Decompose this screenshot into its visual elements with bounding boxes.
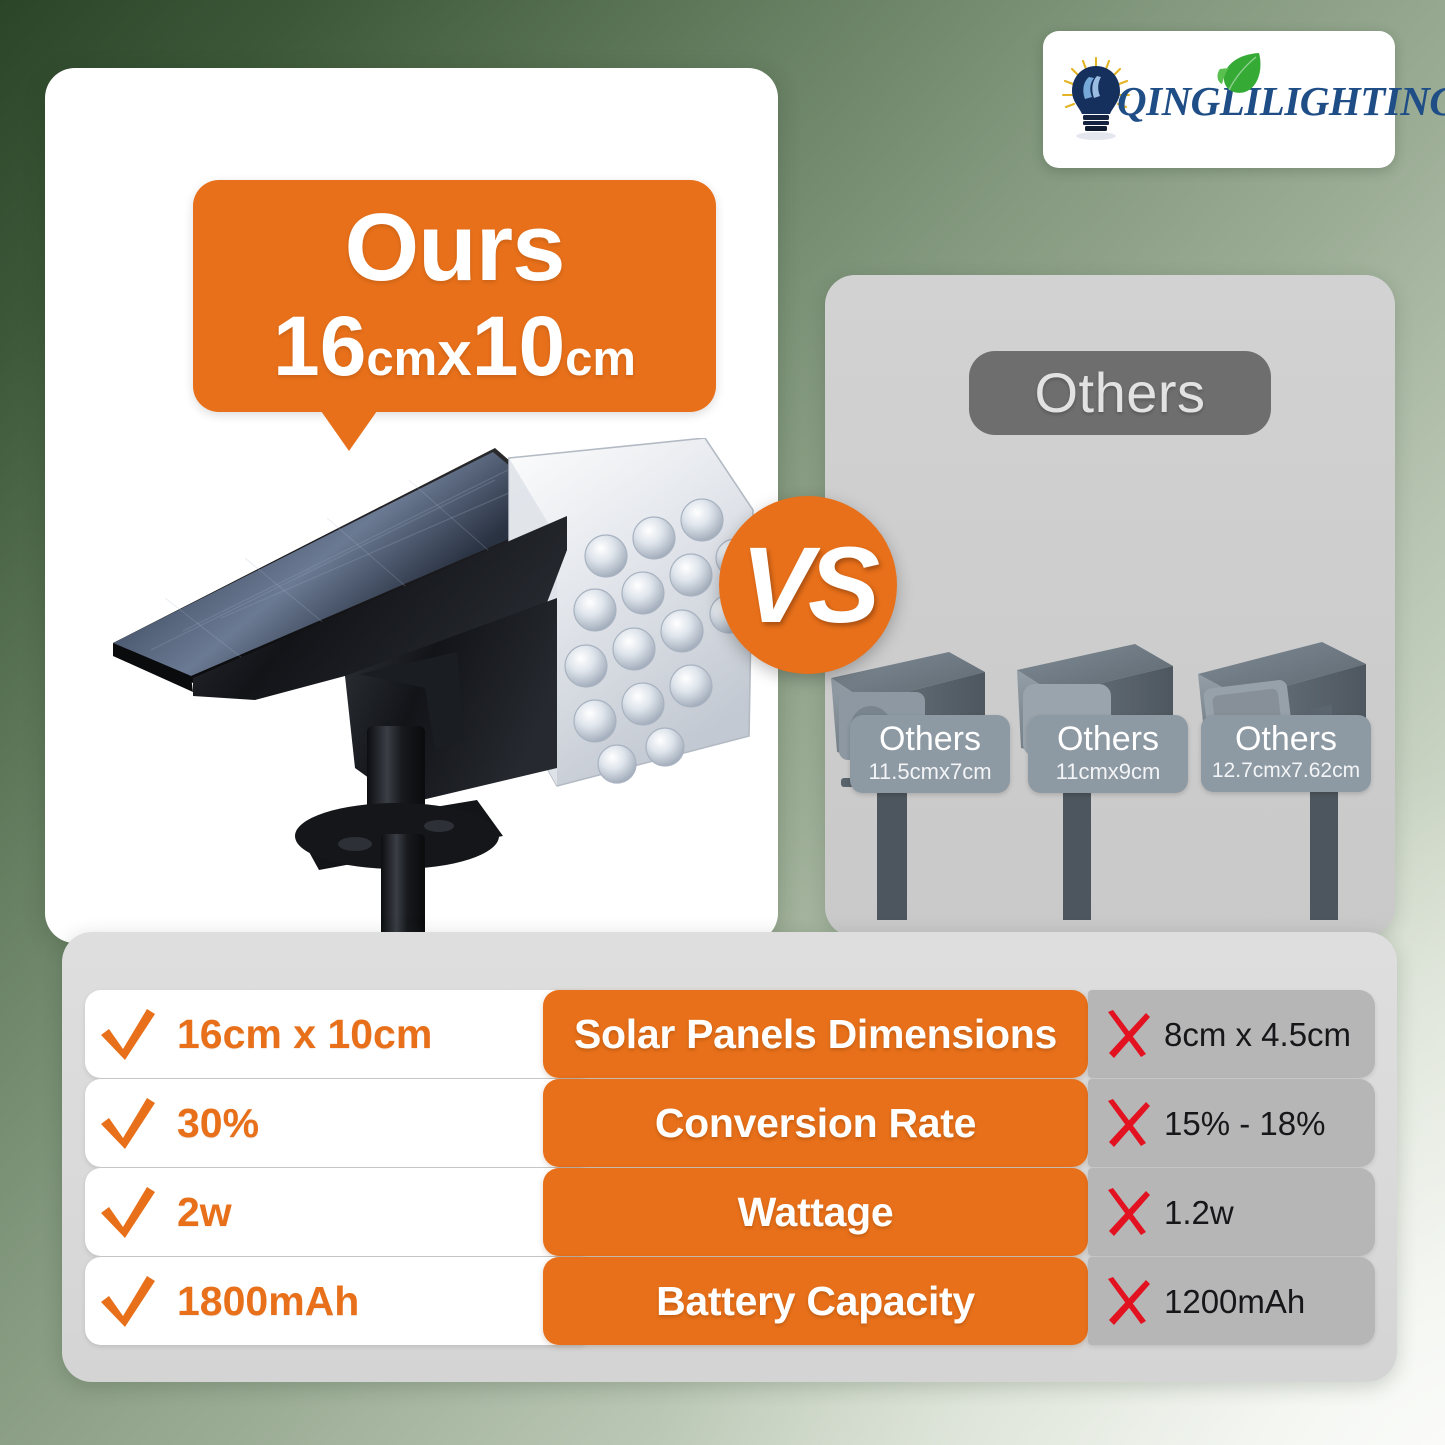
others-value: 1.2w bbox=[1164, 1196, 1234, 1229]
ours-cell: 30% bbox=[85, 1079, 585, 1167]
ours-cell: 2w bbox=[85, 1168, 585, 1256]
brand-logo-card: QINGLILIGHTING bbox=[1043, 31, 1395, 168]
others-cell: 1200mAh bbox=[1088, 1257, 1375, 1345]
others-value: 15% - 18% bbox=[1164, 1107, 1325, 1140]
comparison-table: 16cm x 10cm Solar Panels Dimensions 8cm … bbox=[62, 932, 1397, 1382]
ours-cell: 16cm x 10cm bbox=[85, 990, 585, 1078]
leaf-icon bbox=[1215, 51, 1265, 97]
ours-value: 1800mAh bbox=[177, 1281, 359, 1322]
ours-badge-dimensions: 16cmx10cm bbox=[193, 304, 716, 388]
ours-badge-title: Ours bbox=[193, 180, 716, 296]
check-icon bbox=[91, 1005, 165, 1063]
others-value: 8cm x 4.5cm bbox=[1164, 1018, 1351, 1051]
ours-dim-unit-2: cm bbox=[565, 332, 636, 386]
ours-cell: 1800mAh bbox=[85, 1257, 585, 1345]
others-heading-pill: Others bbox=[969, 351, 1271, 435]
versus-label: VS bbox=[741, 531, 875, 639]
ours-badge: Ours 16cmx10cm bbox=[193, 180, 716, 412]
others-product-label-1: Others 11.5cmx7cm bbox=[850, 715, 1010, 793]
feature-label-cell: Solar Panels Dimensions bbox=[543, 990, 1088, 1078]
infographic-page: Ours 16cmx10cm bbox=[0, 0, 1445, 1445]
others-product-label-2: Others 11cmx9cm bbox=[1028, 715, 1188, 793]
ours-dim-unit-1: cm bbox=[366, 332, 437, 386]
ours-product-image bbox=[105, 438, 785, 1003]
ours-dim-value-2: 10 bbox=[472, 299, 565, 393]
check-icon bbox=[91, 1272, 165, 1330]
versus-badge: VS bbox=[719, 496, 897, 674]
cross-icon bbox=[1094, 1097, 1160, 1149]
others-product-size-2: 11cmx9cm bbox=[1028, 759, 1188, 784]
brand-name: QINGLILIGHTING bbox=[1117, 81, 1445, 122]
table-row: 30% Conversion Rate 15% - 18% bbox=[85, 1079, 1375, 1167]
others-product-name-2: Others bbox=[1028, 722, 1188, 758]
ours-value: 16cm x 10cm bbox=[177, 1014, 432, 1055]
feature-label: Battery Capacity bbox=[656, 1281, 975, 1322]
cross-icon bbox=[1094, 1008, 1160, 1060]
table-row: 16cm x 10cm Solar Panels Dimensions 8cm … bbox=[85, 990, 1375, 1078]
feature-label-cell: Battery Capacity bbox=[543, 1257, 1088, 1345]
others-cell: 1.2w bbox=[1088, 1168, 1375, 1256]
others-product-name-3: Others bbox=[1201, 722, 1371, 758]
table-row: 1800mAh Battery Capacity 1200mAh bbox=[85, 1257, 1375, 1345]
others-heading-label: Others bbox=[1034, 365, 1205, 421]
others-product-label-3: Others 12.7cmx7.62cm bbox=[1201, 715, 1371, 792]
ours-card: Ours 16cmx10cm bbox=[45, 68, 778, 943]
table-row: 2w Wattage 1.2w bbox=[85, 1168, 1375, 1256]
ours-value: 30% bbox=[177, 1103, 259, 1144]
others-cell: 8cm x 4.5cm bbox=[1088, 990, 1375, 1078]
others-product-name-1: Others bbox=[850, 722, 1010, 758]
others-panel: Others bbox=[825, 275, 1395, 937]
cross-icon bbox=[1094, 1186, 1160, 1238]
ours-dim-value-1: 16 bbox=[273, 299, 366, 393]
feature-label: Wattage bbox=[738, 1192, 894, 1233]
others-value: 1200mAh bbox=[1164, 1285, 1305, 1318]
feature-label: Conversion Rate bbox=[655, 1103, 976, 1144]
others-product-size-3: 12.7cmx7.62cm bbox=[1201, 759, 1371, 783]
feature-label-cell: Conversion Rate bbox=[543, 1079, 1088, 1167]
check-icon bbox=[91, 1094, 165, 1152]
others-product-size-1: 11.5cmx7cm bbox=[850, 759, 1010, 784]
check-icon bbox=[91, 1183, 165, 1241]
ours-value: 2w bbox=[177, 1192, 232, 1233]
others-cell: 15% - 18% bbox=[1088, 1079, 1375, 1167]
cross-icon bbox=[1094, 1275, 1160, 1327]
feature-label: Solar Panels Dimensions bbox=[574, 1014, 1057, 1055]
ours-dim-separator: x bbox=[437, 320, 471, 389]
feature-label-cell: Wattage bbox=[543, 1168, 1088, 1256]
